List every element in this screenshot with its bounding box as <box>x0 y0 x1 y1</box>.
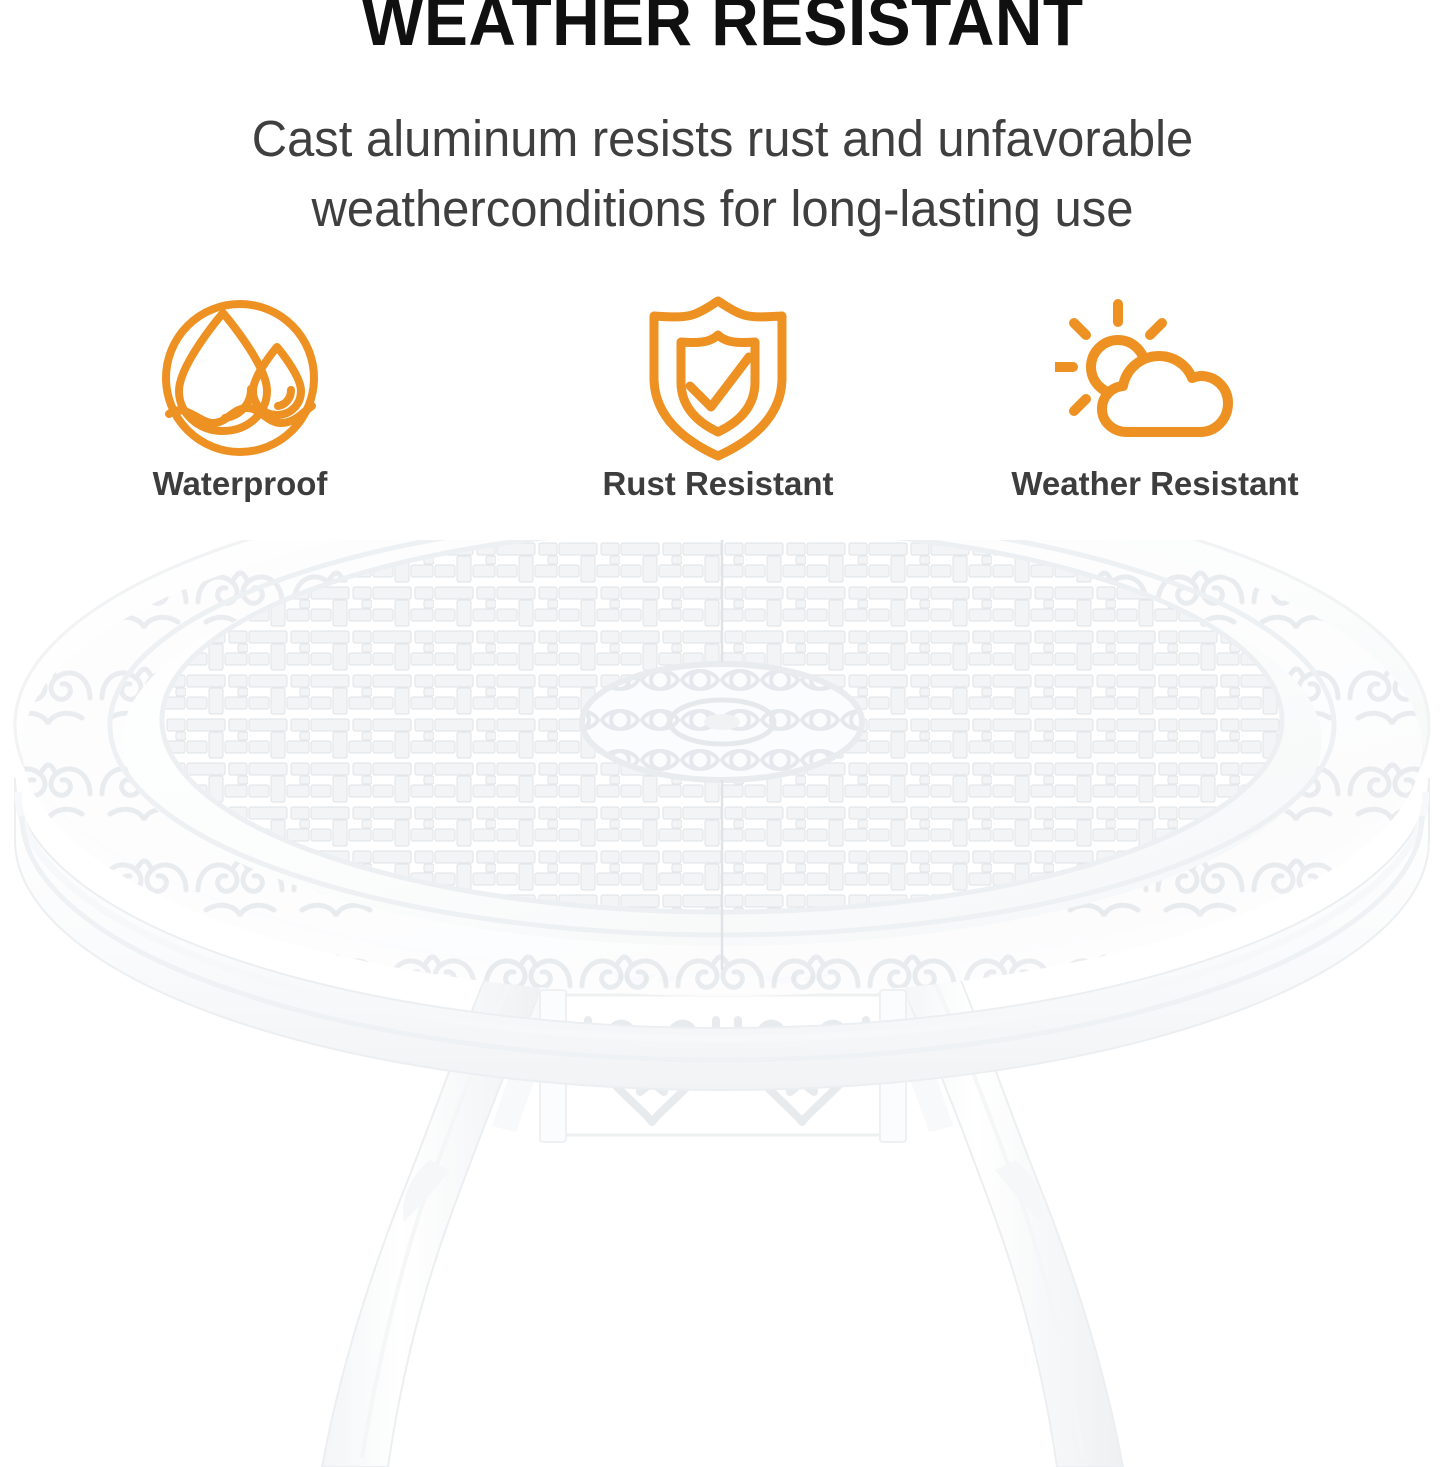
page-title: WEATHER RESISTANT <box>43 0 1401 52</box>
page-subtitle-line-2: weatherconditions for long-lasting use <box>29 174 1416 244</box>
feature-icon-slot <box>568 290 868 465</box>
feature-item-waterproof: Waterproof <box>90 290 390 503</box>
feature-item-weather-resistant: Weather Resistant <box>1005 290 1305 503</box>
product-image <box>0 540 1445 1467</box>
shield-check-icon <box>633 290 803 465</box>
feature-icon-slot <box>1005 290 1305 465</box>
feature-label-weather-resistant: Weather Resistant <box>1005 465 1305 503</box>
patio-table-illustration <box>0 540 1445 1467</box>
product-infographic-page: WEATHER RESISTANT Cast aluminum resists … <box>0 0 1445 1467</box>
page-subtitle-line-1: Cast aluminum resists rust and unfavorab… <box>29 104 1416 174</box>
feature-label-rust-resistant: Rust Resistant <box>568 465 868 503</box>
waterproof-droplets-icon <box>155 290 325 465</box>
sun-cloud-icon <box>1055 290 1255 465</box>
header-block: WEATHER RESISTANT Cast aluminum resists … <box>0 0 1445 244</box>
feature-item-rust-resistant: Rust Resistant <box>568 290 868 503</box>
feature-list: Waterproof Rust Resistant <box>0 290 1445 540</box>
page-subtitle: Cast aluminum resists rust and unfavorab… <box>29 104 1416 244</box>
feature-icon-slot <box>90 290 390 465</box>
feature-label-waterproof: Waterproof <box>90 465 390 503</box>
